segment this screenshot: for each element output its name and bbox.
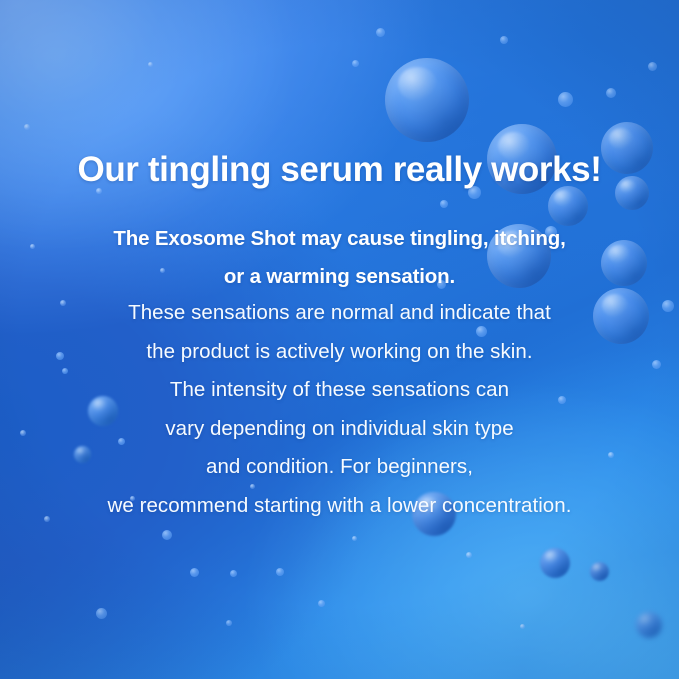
poster-text-content: Our tingling serum really works! The Exo… <box>0 0 679 679</box>
body-paragraph: These sensations are normal and indicate… <box>0 294 679 525</box>
body-line: the product is actively working on the s… <box>0 333 679 372</box>
subheading-line: or a warming sensation. <box>0 258 679 296</box>
body-line: we recommend starting with a lower conce… <box>0 487 679 526</box>
subheading-line: The Exosome Shot may cause tingling, itc… <box>0 220 679 258</box>
body-line: These sensations are normal and indicate… <box>0 294 679 333</box>
body-line: and condition. For beginners, <box>0 448 679 487</box>
subheading: The Exosome Shot may cause tingling, itc… <box>0 220 679 296</box>
page-title: Our tingling serum really works! <box>0 150 679 190</box>
body-line: vary depending on individual skin type <box>0 410 679 449</box>
body-line: The intensity of these sensations can <box>0 371 679 410</box>
promo-poster: Our tingling serum really works! The Exo… <box>0 0 679 679</box>
